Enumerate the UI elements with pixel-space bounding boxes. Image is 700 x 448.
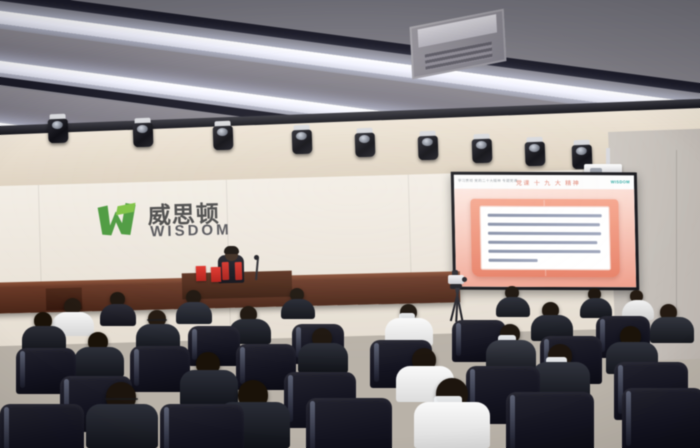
attendee-body [281, 299, 315, 319]
stage-light-icon [47, 114, 68, 145]
auditorium-seat [506, 392, 594, 448]
attendee-glasses-icon [104, 398, 138, 400]
stage-light-icon [132, 118, 153, 149]
projection-screen: 学习贯彻 党的二十大精神 专题党课 党课 十 九 大 精神 WISDOM 深入中… [451, 172, 640, 291]
attendee-body [74, 347, 124, 377]
speaker-red-vest [235, 262, 243, 280]
attendee-body [414, 402, 490, 448]
attendee-glasses-icon [147, 319, 167, 321]
slide-text-panel: 深入中国特色社会主义伟大旗帜，全面学习习近平新时代中国特色社会主义思想，弘扬伟大… [479, 206, 610, 271]
stage-light-icon [212, 121, 233, 152]
slide-header-logo: WISDOM [611, 179, 630, 184]
table-name-sign [211, 267, 222, 282]
attendee-body [176, 302, 212, 324]
slide-body: 深入中国特色社会主义伟大旗帜，全面学习习近平新时代中国特色社会主义思想，弘扬伟大… [454, 189, 636, 288]
audience-seating [0, 286, 700, 448]
open-book-graphic: 深入中国特色社会主义伟大旗帜，全面学习习近平新时代中国特色社会主义思想，弘扬伟大… [470, 199, 619, 278]
wisdom-logo-mark-icon [95, 201, 140, 242]
auditorium-seat [306, 398, 392, 448]
table-name-sign [196, 266, 207, 281]
attendee-body [580, 298, 612, 318]
auditorium-seat [622, 388, 700, 448]
stage-light-icon [354, 128, 375, 159]
attendee-body [496, 297, 530, 317]
stage-light-icon [471, 134, 492, 165]
stage-light-icon [524, 137, 545, 168]
auditorium-seat [0, 404, 84, 448]
stage-light-icon [417, 131, 438, 162]
attendee-body [180, 370, 238, 406]
conference-hall-photo: AIRCONDIT 威思顿 WISDOM 学习贯彻 党的二十大精神 专题党课 [0, 0, 700, 448]
presentation-slide: 学习贯彻 党的二十大精神 专题党课 党课 十 九 大 精神 WISDOM 深入中… [454, 175, 636, 288]
speaker-hair [224, 246, 239, 254]
camera-lens-icon [462, 277, 467, 282]
attendee-body [298, 343, 348, 373]
ceiling-air-vent-icon [410, 9, 507, 80]
company-logo: 威思顿 WISDOM [95, 194, 236, 248]
stage-light-icon [291, 125, 312, 156]
speaker-red-vest [222, 262, 230, 280]
microphone-icon [254, 255, 259, 260]
attendee-body [100, 304, 136, 326]
slide-header-title: 党课 十 九 大 精神 [516, 177, 580, 186]
slide-header-left: 学习贯彻 党的二十大精神 专题党课 [458, 179, 518, 184]
attendee-body [650, 317, 694, 343]
auditorium-seat [160, 404, 244, 448]
logo-english-text: WISDOM [150, 221, 232, 240]
attendee-body [86, 404, 158, 448]
